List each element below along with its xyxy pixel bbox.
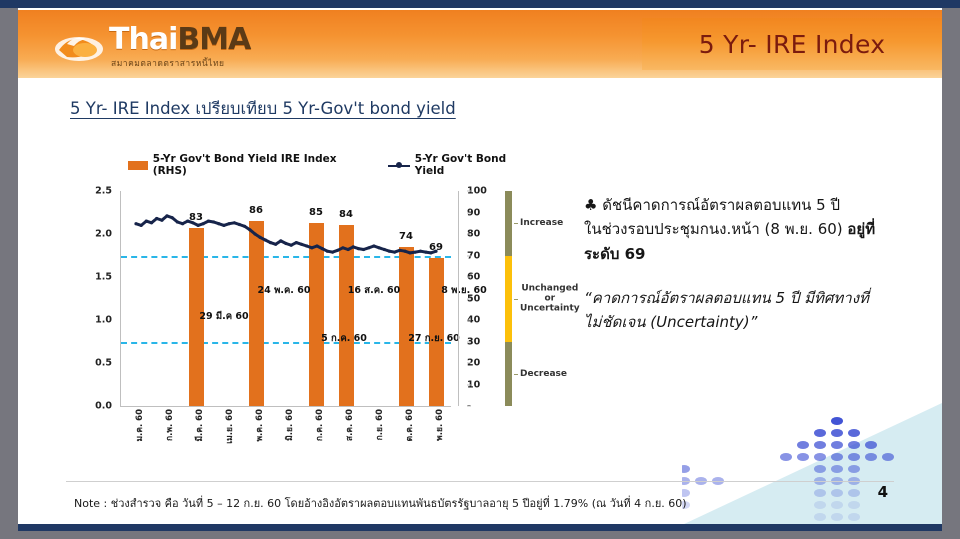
decorative-dots-svg <box>682 395 942 525</box>
sentiment-band-label-line: Uncertainty <box>520 304 580 314</box>
line-point <box>150 221 153 224</box>
x-axis-label: ก.พ. 60 <box>162 409 176 441</box>
decorative-dot <box>814 429 826 437</box>
line-point <box>357 247 360 250</box>
line-point <box>367 246 370 249</box>
y-tick-mark-right <box>467 298 471 299</box>
y-tick-mark-right <box>467 234 471 235</box>
line-point <box>264 238 267 241</box>
line-point <box>305 244 308 247</box>
line-point <box>393 251 396 254</box>
decorative-dot <box>848 453 860 461</box>
y-tick-mark-right <box>467 341 471 342</box>
commentary-bullet-line1: ♣ ดัชนีคาดการณ์อัตราผลตอบแทน 5 ปี <box>584 193 934 217</box>
y-tick-left: 2.5 <box>95 186 112 197</box>
sentiment-band-segment <box>505 342 512 407</box>
legend-label-line: 5-Yr Gov't Bond Yield <box>415 153 538 177</box>
slide-header: ThaiBMA สมาคมตลาดตราสารหนี้ไทย 5 Yr- IRE… <box>18 10 942 78</box>
sentiment-band-label: Decrease <box>520 369 567 379</box>
sentiment-band-label-line: or <box>520 293 580 303</box>
line-point <box>134 222 137 225</box>
decorative-dot <box>814 501 826 509</box>
chart-legend: 5-Yr Gov't Bond Yield IRE Index (RHS) 5-… <box>128 153 538 177</box>
y-tick-mark-right <box>467 212 471 213</box>
commentary-text-line1: ดัชนีคาดการณ์อัตราผลตอบแทน 5 ปี <box>602 196 840 214</box>
line-point <box>155 217 158 220</box>
sentiment-band-tick <box>514 374 518 375</box>
logo-wordmark: ThaiBMA <box>109 22 250 57</box>
decorative-dot <box>831 465 843 473</box>
line-point <box>248 228 251 231</box>
y-tick-mark-right <box>467 255 471 256</box>
x-axis-label: เม.ย. 60 <box>222 409 236 444</box>
footer-divider <box>66 481 894 482</box>
top-accent-bar <box>0 0 960 8</box>
line-point <box>253 232 256 235</box>
slide-wrapper: ThaiBMA สมาคมตลาดตราสารหนี้ไทย 5 Yr- IRE… <box>0 0 960 539</box>
decorative-dot <box>814 513 826 521</box>
decorative-dot <box>831 441 843 449</box>
legend-item-bar: 5-Yr Gov't Bond Yield IRE Index (RHS) <box>128 153 372 177</box>
line-point <box>191 221 194 224</box>
chart-plot-area: 83868584746929 มี.ค 6024 พ.ค. 605 ก.ค. 6… <box>120 191 451 407</box>
line-point <box>140 224 143 227</box>
chart-container: 5-Yr Gov't Bond Yield IRE Index (RHS) 5-… <box>68 153 538 453</box>
sentiment-band <box>505 191 512 406</box>
legend-swatch-bar <box>128 161 148 170</box>
line-point <box>388 250 391 253</box>
line-point <box>315 244 318 247</box>
club-bullet-icon: ♣ <box>584 196 597 214</box>
y-tick-left: 1.5 <box>95 272 112 283</box>
line-point <box>165 214 168 217</box>
decorative-dot <box>682 465 690 473</box>
commentary-bullet-line2: ในช่วงรอบประชุมกนง.หน้า (8 พ.ย. 60) อยู่… <box>584 217 934 241</box>
y-tick-mark-right <box>467 320 471 321</box>
x-axis-label: ก.ค. 60 <box>312 409 326 441</box>
decorative-dot <box>797 441 809 449</box>
decorative-dot <box>848 465 860 473</box>
line-point <box>434 250 437 253</box>
decorative-dot <box>831 513 843 521</box>
line-point <box>326 250 329 253</box>
line-point <box>398 249 401 252</box>
y-tick-left: 0.0 <box>95 401 112 412</box>
line-point <box>403 250 406 253</box>
x-axis-label: มิ.ย. 60 <box>282 409 296 441</box>
line-point <box>222 224 225 227</box>
thaibma-logo: ThaiBMA สมาคมตลาดตราสารหนี้ไทย <box>53 24 303 72</box>
y-tick-left: 1.0 <box>95 315 112 326</box>
commentary-text-line2: ในช่วงรอบประชุมกนง.หน้า (8 พ.ย. 60) <box>584 220 847 238</box>
logo-word-thai: Thai <box>109 22 177 57</box>
commentary-text-line2-bold: อยู่ที่ <box>847 220 875 238</box>
sentiment-band-tick <box>514 223 518 224</box>
line-point <box>284 242 287 245</box>
line-point <box>372 244 375 247</box>
line-point <box>336 249 339 252</box>
decorative-dot <box>814 453 826 461</box>
sentiment-band-segment <box>505 256 512 342</box>
y-axis-left: 0.00.51.01.52.02.5 <box>68 191 116 406</box>
line-point <box>310 246 313 249</box>
line-point <box>269 241 272 244</box>
line-point <box>212 220 215 223</box>
footnote: Note : ช่วงสำรวจ คือ วันที่ 5 – 12 ก.ย. … <box>74 494 687 512</box>
line-point <box>378 246 381 249</box>
decorative-dot <box>831 501 843 509</box>
line-point <box>352 245 355 248</box>
line-point <box>217 222 220 225</box>
line-point <box>331 251 334 254</box>
decorative-dot <box>831 453 843 461</box>
y-tick-left: 2.0 <box>95 229 112 240</box>
decorative-dot <box>780 453 792 461</box>
logo-word-bma: BMA <box>177 22 250 57</box>
line-point <box>243 225 246 228</box>
line-series <box>121 191 451 406</box>
commentary-quote-line2: ไม่ชัดเจน (Uncertainty)” <box>584 310 934 334</box>
header-divider <box>18 78 942 82</box>
line-point <box>347 248 350 251</box>
commentary-quote-line1: “คาดการณ์อัตราผลตอบแทน 5 ปี มีทิศทางที่ <box>584 286 934 310</box>
legend-swatch-line <box>388 161 410 170</box>
line-point <box>419 250 422 253</box>
commentary-block: ♣ ดัชนีคาดการณ์อัตราผลตอบแทน 5 ปี ในช่วง… <box>584 193 934 334</box>
y-tick-left: 0.5 <box>95 358 112 369</box>
decorative-dot <box>848 429 860 437</box>
line-point <box>362 248 365 251</box>
decorative-dot <box>831 489 843 497</box>
line-path <box>136 216 436 253</box>
logo-subtitle: สมาคมตลาดตราสารหนี้ไทย <box>111 56 225 70</box>
x-axis-label: พ.ค. 60 <box>252 409 266 442</box>
decorative-dot <box>814 441 826 449</box>
commentary-quote: “คาดการณ์อัตราผลตอบแทน 5 ปี มีทิศทางที่ … <box>584 286 934 335</box>
line-point <box>171 216 174 219</box>
decorative-dots <box>682 395 942 525</box>
x-axis-label: มี.ค. 60 <box>192 409 206 442</box>
sentiment-band-label-line: Unchanged <box>520 283 580 293</box>
decorative-dot <box>831 429 843 437</box>
sentiment-band-label: UnchangedorUncertainty <box>520 283 580 314</box>
line-point <box>228 222 231 225</box>
decorative-dot <box>797 453 809 461</box>
decorative-dot <box>848 441 860 449</box>
logo-mark-icon <box>53 30 105 64</box>
line-point <box>424 251 427 254</box>
decorative-dot <box>814 465 826 473</box>
sentiment-band-label: Increase <box>520 218 563 228</box>
x-axis-label: พ.ย. 60 <box>432 409 446 441</box>
x-axis-labels: ม.ค. 60ก.พ. 60มี.ค. 60เม.ย. 60พ.ค. 60มิ.… <box>120 409 450 455</box>
decorative-dot <box>848 501 860 509</box>
y-axis-right: -102030405060708090100 <box>458 191 499 406</box>
line-point <box>414 251 417 254</box>
y-tick-mark-right <box>467 384 471 385</box>
section-subtitle: 5 Yr- IRE Index เปรียบเทียบ 5 Yr-Gov't b… <box>70 96 456 122</box>
line-point <box>233 221 236 224</box>
line-point <box>290 244 293 247</box>
decorative-dot <box>848 513 860 521</box>
bottom-accent-bar <box>18 524 942 531</box>
line-point <box>321 247 324 250</box>
slide-canvas: ThaiBMA สมาคมตลาดตราสารหนี้ไทย 5 Yr- IRE… <box>18 8 942 531</box>
line-point <box>186 220 189 223</box>
line-point <box>341 246 344 249</box>
line-point <box>259 236 262 239</box>
line-point <box>197 224 200 227</box>
line-point <box>202 222 205 225</box>
line-point <box>279 239 282 242</box>
y-tick-mark-right <box>467 363 471 364</box>
x-axis-label: ม.ค. 60 <box>132 409 146 442</box>
decorative-dot <box>814 489 826 497</box>
line-point <box>409 251 412 254</box>
commentary-bullet-line3: ระดับ 69 <box>584 242 934 266</box>
x-axis-label: ส.ค. 60 <box>342 409 356 441</box>
line-point <box>181 222 184 225</box>
line-point <box>295 241 298 244</box>
page-number: 4 <box>878 483 888 501</box>
line-point <box>274 243 277 246</box>
y-tick-mark-right <box>467 191 471 192</box>
slide-title-plate: 5 Yr- IRE Index <box>642 18 942 70</box>
line-point <box>207 220 210 223</box>
line-point <box>383 248 386 251</box>
sentiment-band-segment <box>505 191 512 256</box>
decorative-dot <box>882 453 894 461</box>
line-point <box>300 243 303 246</box>
line-point <box>238 223 241 226</box>
decorative-dot <box>865 453 877 461</box>
x-axis-label: ต.ค. 60 <box>402 409 416 441</box>
line-point <box>145 220 148 223</box>
line-point <box>160 219 163 222</box>
y-tick-mark-right <box>467 277 471 278</box>
legend-item-line: 5-Yr Gov't Bond Yield <box>388 153 538 177</box>
sentiment-band-tick <box>514 299 518 300</box>
decorative-dot <box>848 489 860 497</box>
decorative-dot <box>865 441 877 449</box>
line-point <box>176 220 179 223</box>
page-title: 5 Yr- IRE Index <box>699 30 886 59</box>
legend-label-bar: 5-Yr Gov't Bond Yield IRE Index (RHS) <box>153 153 372 177</box>
x-axis-label: ก.ย. 60 <box>372 409 386 440</box>
y-tick-mark-right <box>467 406 471 407</box>
line-point <box>429 251 432 254</box>
decorative-dot <box>831 417 843 425</box>
